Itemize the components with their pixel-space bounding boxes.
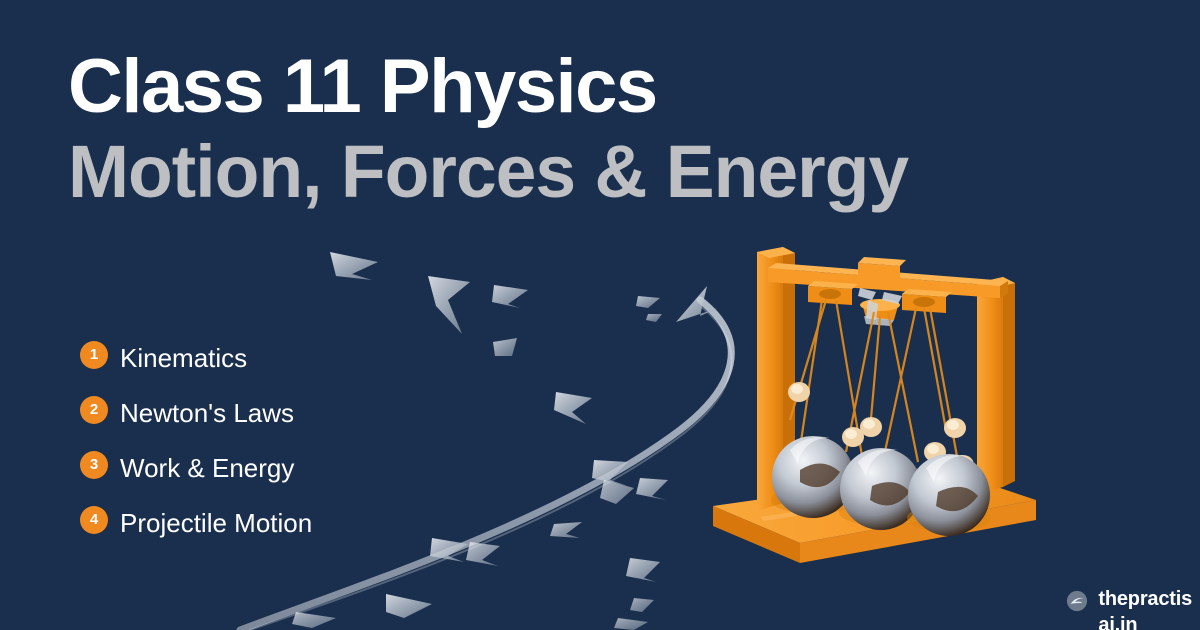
- cradle-hanger-blocks: [808, 257, 952, 320]
- cradle-base: [713, 472, 1036, 563]
- newtons-cradle-illustration: [713, 247, 1036, 563]
- cradle-post-right: [977, 277, 1015, 495]
- topic-label: Newton's Laws: [120, 391, 350, 435]
- topic-label: Work & Energy: [120, 446, 350, 490]
- topic-label: Kinematics: [120, 336, 350, 380]
- cradle-crossbar: [768, 263, 1008, 298]
- brand-domain: ai.in: [1098, 612, 1192, 630]
- topic-number-badge: 2: [80, 396, 108, 424]
- topic-label: Projectile Motion: [120, 501, 350, 545]
- topic-number-badge: 4: [80, 506, 108, 534]
- brand-watermark[interactable]: thepractis ai.in: [1066, 586, 1192, 630]
- topic-number-badge: 1: [80, 341, 108, 369]
- topic-item-4[interactable]: 4 Projectile Motion: [78, 503, 378, 537]
- page-subtitle: Motion, Forces & Energy: [68, 130, 1117, 214]
- cradle-linkage: [858, 288, 902, 326]
- page-title: Class 11 Physics: [68, 44, 1128, 130]
- cradle-beads: [788, 382, 974, 475]
- swoosh-logo-icon: [1066, 590, 1088, 612]
- topic-item-1[interactable]: 1 Kinematics: [78, 338, 378, 372]
- arc-arrowhead: [676, 286, 718, 322]
- headline-block: Class 11 Physics Motion, Forces & Energy: [68, 44, 1128, 214]
- topic-list: 1 Kinematics 2 Newton's Laws 3 Work & En…: [78, 338, 378, 578]
- cradle-post-left: [757, 247, 795, 511]
- topic-number-badge: 3: [80, 451, 108, 479]
- topic-item-2[interactable]: 2 Newton's Laws: [78, 393, 378, 427]
- brand-name: thepractis: [1098, 586, 1192, 612]
- poster-canvas: Class 11 Physics Motion, Forces & Energy…: [0, 0, 1200, 630]
- cradle-spheres: [771, 436, 991, 536]
- cradle-strings: [790, 300, 958, 462]
- topic-item-3[interactable]: 3 Work & Energy: [78, 448, 378, 482]
